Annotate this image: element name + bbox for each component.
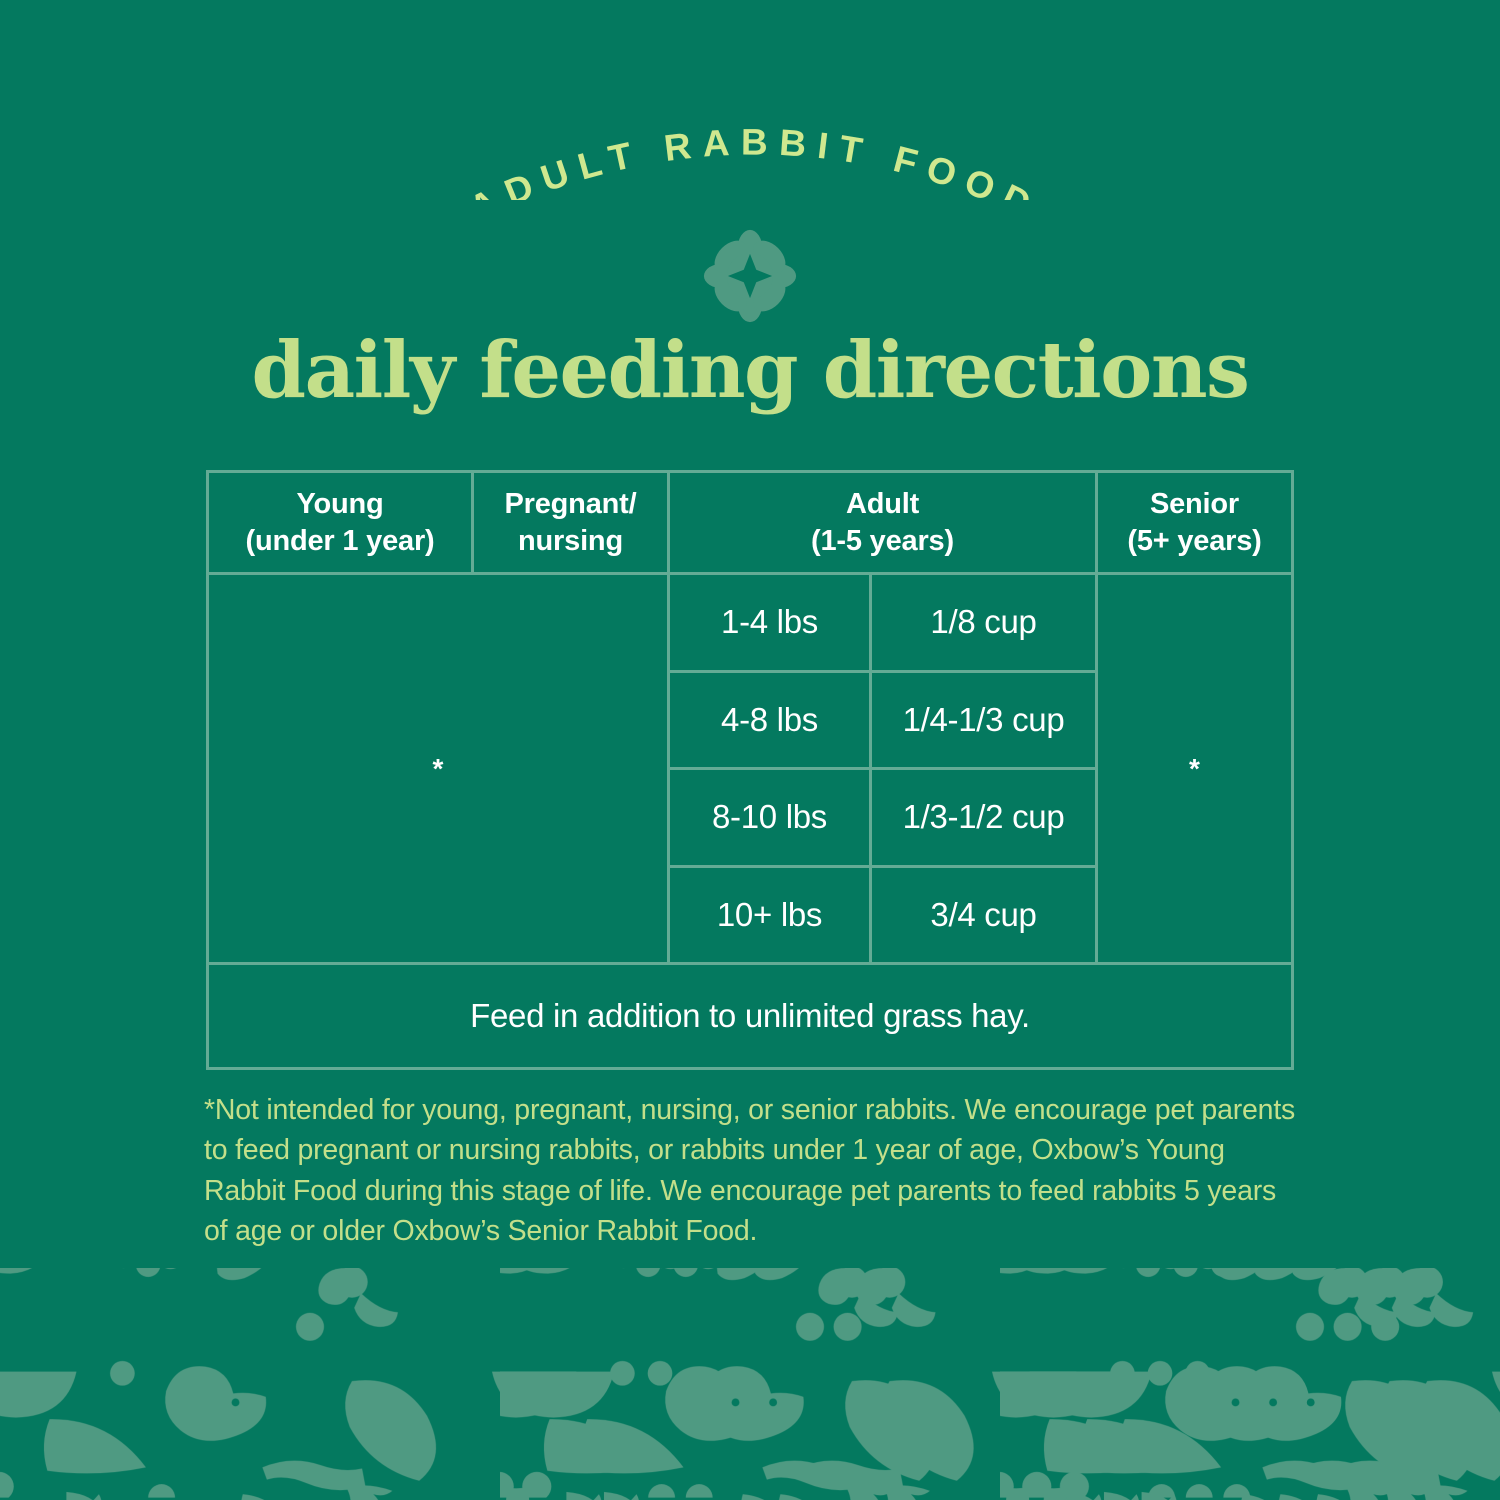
feeding-directions-panel: ADULT RABBIT FOOD daily bbox=[0, 0, 1500, 1500]
adult-amount-cell: 1/4-1/3 cup bbox=[872, 673, 1095, 768]
table-header-senior: Senior (5+ years) bbox=[1098, 473, 1291, 575]
header-line-1: Adult bbox=[846, 486, 919, 522]
adult-amount-cell: 1/8 cup bbox=[872, 575, 1095, 670]
table-header-adult: Adult (1-5 years) bbox=[670, 473, 1098, 575]
rosette-flower-icon bbox=[702, 228, 798, 324]
eyebrow-text: ADULT RABBIT FOOD bbox=[463, 121, 1047, 200]
adult-feeding-grid: 1-4 lbs 1/8 cup 4-8 lbs 1/4-1/3 cup 8-10… bbox=[670, 575, 1098, 965]
page-title: daily feeding directions bbox=[0, 332, 1500, 410]
cell-senior-asterisk: * bbox=[1098, 575, 1291, 965]
header-line-2: (5+ years) bbox=[1127, 523, 1261, 559]
table-row: 8-10 lbs 1/3-1/2 cup bbox=[670, 770, 1095, 868]
table-footer-note: Feed in addition to unlimited grass hay. bbox=[209, 965, 1291, 1067]
adult-weight-cell: 10+ lbs bbox=[670, 868, 872, 963]
table-row: 4-8 lbs 1/4-1/3 cup bbox=[670, 673, 1095, 771]
decorative-pattern-band bbox=[0, 1268, 1500, 1500]
table-header-pregnant: Pregnant/ nursing bbox=[474, 473, 670, 575]
header-line-1: Senior bbox=[1150, 486, 1239, 522]
table-header-row: Young (under 1 year) Pregnant/ nursing A… bbox=[209, 473, 1291, 575]
table-row: 1-4 lbs 1/8 cup bbox=[670, 575, 1095, 673]
adult-weight-cell: 4-8 lbs bbox=[670, 673, 872, 768]
header-line-1: Young bbox=[296, 486, 383, 522]
adult-weight-cell: 1-4 lbs bbox=[670, 575, 872, 670]
header-line-1: Pregnant/ bbox=[505, 486, 637, 522]
adult-amount-cell: 3/4 cup bbox=[872, 868, 1095, 963]
header-line-2: nursing bbox=[518, 523, 623, 559]
adult-weight-cell: 8-10 lbs bbox=[670, 770, 872, 865]
header-line-2: (1-5 years) bbox=[811, 523, 954, 559]
table-header-young: Young (under 1 year) bbox=[209, 473, 474, 575]
eyebrow-arc: ADULT RABBIT FOOD bbox=[0, 0, 1500, 200]
feeding-table: Young (under 1 year) Pregnant/ nursing A… bbox=[206, 470, 1294, 1070]
table-row: 10+ lbs 3/4 cup bbox=[670, 868, 1095, 963]
cell-young-pregnant-asterisk: * bbox=[209, 575, 670, 965]
header-line-2: (under 1 year) bbox=[246, 523, 435, 559]
table-body: * 1-4 lbs 1/8 cup 4-8 lbs 1/4-1/3 cup 8-… bbox=[209, 575, 1291, 965]
adult-amount-cell: 1/3-1/2 cup bbox=[872, 770, 1095, 865]
footnote-text: *Not intended for young, pregnant, nursi… bbox=[204, 1090, 1300, 1252]
